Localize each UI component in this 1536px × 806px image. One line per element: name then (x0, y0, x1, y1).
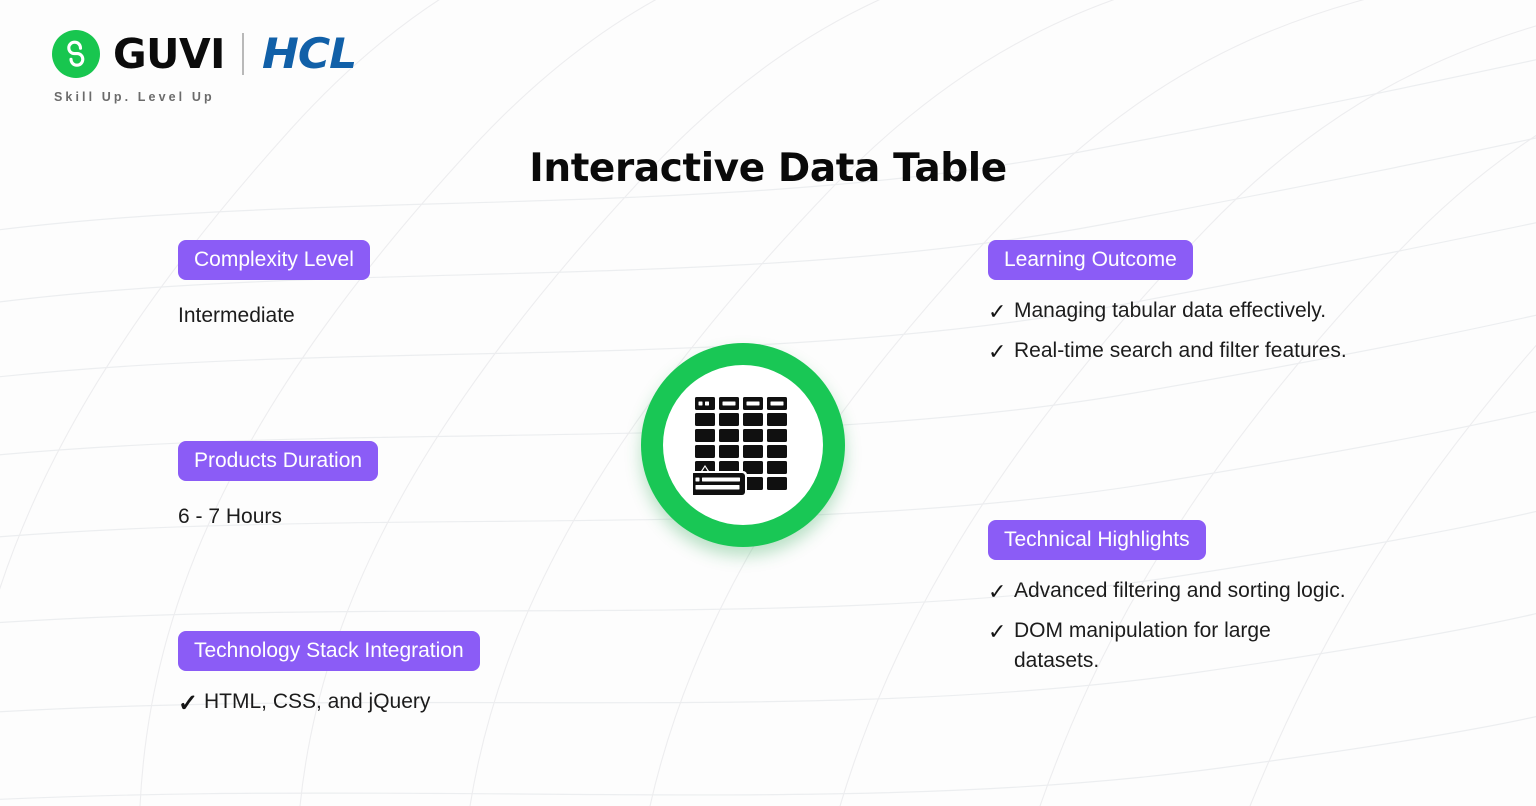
check-icon: ✓ (988, 616, 1014, 648)
logo-row: GUVI HCL (52, 30, 352, 78)
list-item-label: Real-time search and filter features. (1014, 336, 1347, 366)
spacer-left-2 (178, 531, 598, 631)
badge-complexity-level: Complexity Level (178, 240, 370, 280)
slide-root: GUVI HCL Skill Up. Level Up Interactive … (0, 0, 1536, 806)
badge-technical-highlights: Technical Highlights (988, 520, 1206, 560)
right-column: Learning Outcome ✓ Managing tabular data… (988, 240, 1458, 685)
brand-tagline: Skill Up. Level Up (54, 90, 352, 104)
check-icon: ✓ (988, 336, 1014, 368)
brand-logo-block: GUVI HCL Skill Up. Level Up (52, 30, 352, 104)
section-products-duration: Products Duration 6 - 7 Hours (178, 441, 598, 530)
section-technology-stack: Technology Stack Integration ✓ HTML, CSS… (178, 631, 598, 722)
spacer-right-1 (988, 376, 1458, 520)
section-learning-outcome: Learning Outcome ✓ Managing tabular data… (988, 240, 1458, 368)
check-icon: ✓ (178, 687, 204, 722)
value-products-duration: 6 - 7 Hours (178, 503, 598, 530)
list-item: ✓ DOM manipulation for large datasets. (988, 616, 1458, 677)
data-table-icon (641, 343, 845, 547)
list-item-label: HTML, CSS, and jQuery (204, 687, 430, 717)
check-icon: ✓ (988, 576, 1014, 608)
guvi-logomark-icon (52, 30, 100, 78)
list-item-label: Managing tabular data effectively. (1014, 296, 1326, 326)
list-item-label: DOM manipulation for large datasets. (1014, 616, 1314, 677)
spacer-left-1 (178, 329, 598, 441)
section-complexity-level: Complexity Level Intermediate (178, 240, 598, 329)
list-technical-highlights: ✓ Advanced filtering and sorting logic. … (988, 576, 1458, 677)
hcl-wordmark: HCL (262, 33, 356, 75)
list-item-label: Advanced filtering and sorting logic. (1014, 576, 1346, 606)
list-item: ✓ Managing tabular data effectively. (988, 296, 1458, 328)
list-technology-stack: ✓ HTML, CSS, and jQuery (178, 687, 598, 722)
page-title: Interactive Data Table (0, 146, 1536, 191)
badge-learning-outcome: Learning Outcome (988, 240, 1193, 280)
left-column: Complexity Level Intermediate Products D… (178, 240, 598, 730)
table-grid-glyph (693, 395, 793, 495)
list-item: ✓ Advanced filtering and sorting logic. (988, 576, 1458, 608)
list-learning-outcome: ✓ Managing tabular data effectively. ✓ R… (988, 296, 1458, 368)
check-icon: ✓ (988, 296, 1014, 328)
list-item: ✓ HTML, CSS, and jQuery (178, 687, 598, 722)
badge-technology-stack-integration: Technology Stack Integration (178, 631, 480, 671)
list-item: ✓ Real-time search and filter features. (988, 336, 1458, 368)
logo-divider (242, 33, 244, 75)
section-technical-highlights: Technical Highlights ✓ Advanced filterin… (988, 520, 1458, 677)
guvi-wordmark: GUVI (113, 34, 225, 75)
value-complexity-level: Intermediate (178, 302, 598, 329)
guvi-g-icon (61, 39, 91, 69)
badge-products-duration: Products Duration (178, 441, 378, 481)
